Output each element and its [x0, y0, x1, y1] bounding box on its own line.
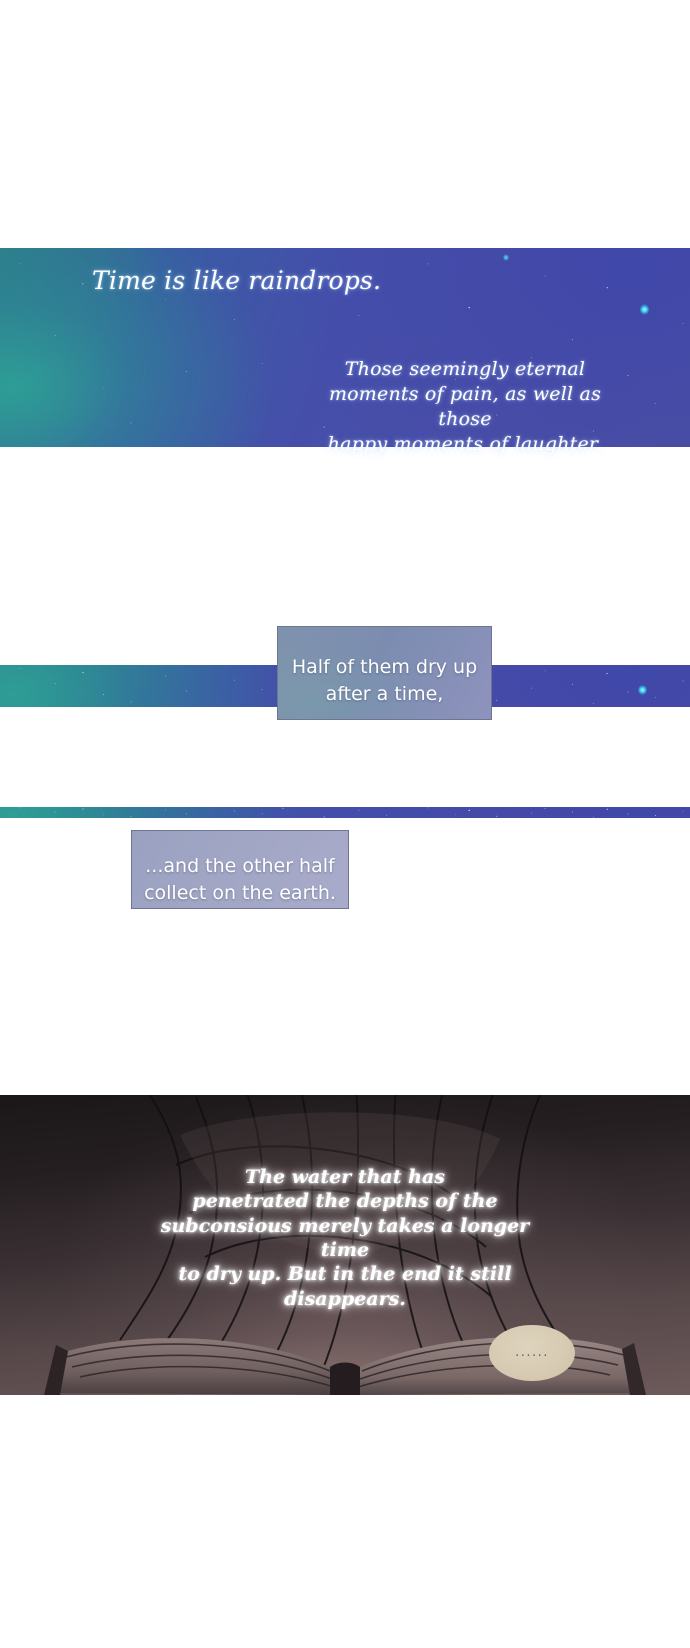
dialogue-text: ...and the other half collect on the ear…	[134, 853, 346, 907]
book-panel-caption: The water that has penetrated the depths…	[145, 1165, 545, 1311]
ellipsis-speech-bubble: ......	[489, 1325, 575, 1381]
glow-orb	[638, 685, 647, 695]
dialogue-box-half-dry-up: Half of them dry up after a time,	[277, 626, 492, 720]
comic-page: Time is like raindrops. Those seemingly …	[0, 0, 690, 1648]
glow-orb	[503, 254, 509, 261]
dialogue-text: Half of them dry up after a time,	[282, 654, 487, 708]
ellipsis-bubble-text: ......	[515, 1345, 549, 1360]
glow-orb	[640, 304, 649, 315]
narration-line-1: Time is like raindrops.	[92, 264, 381, 297]
starry-sky-thin-strip	[0, 807, 690, 818]
dialogue-box-other-half: ...and the other half collect on the ear…	[131, 830, 349, 909]
narration-line-2: Those seemingly eternal moments of pain,…	[300, 357, 630, 457]
